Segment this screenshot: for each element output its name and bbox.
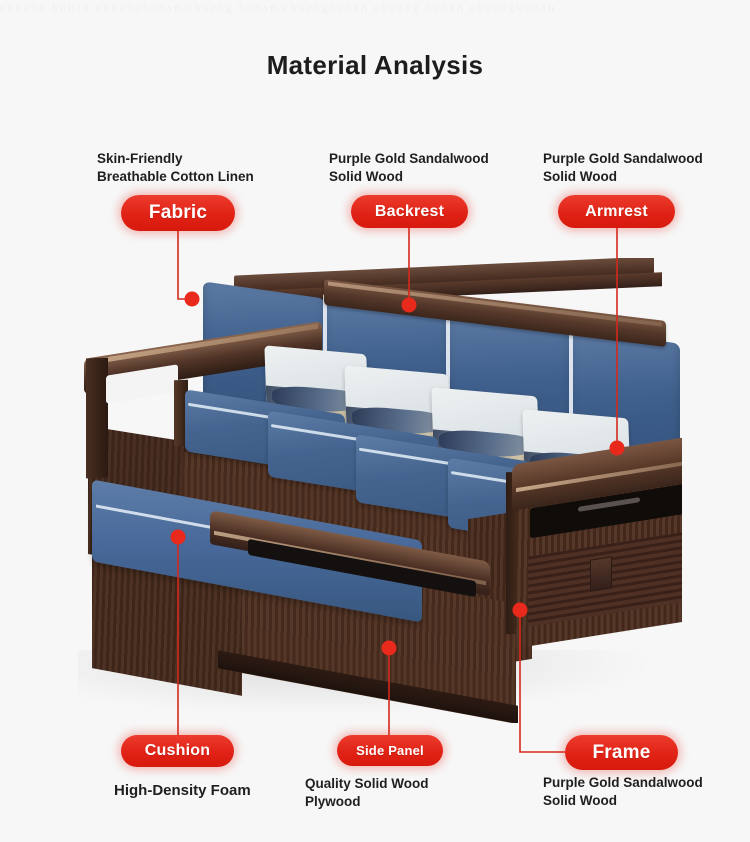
callout-badge-frame[interactable]: Frame bbox=[565, 735, 678, 770]
callout-description-backrest: Purple Gold Sandalwood Solid Wood bbox=[329, 150, 489, 186]
left-armrest-front-post bbox=[86, 358, 108, 479]
callout-description-armrest: Purple Gold Sandalwood Solid Wood bbox=[543, 150, 703, 186]
callout-description-side-panel: Quality Solid Wood Plywood bbox=[305, 775, 429, 811]
callout-badge-fabric[interactable]: Fabric bbox=[121, 195, 235, 231]
watermark-text: chuang hunan chuanghunan chuang hunan ch… bbox=[0, 0, 750, 16]
callout-badge-cushion[interactable]: Cushion bbox=[121, 735, 234, 767]
callout-badge-side-panel[interactable]: Side Panel bbox=[337, 735, 443, 766]
callout-description-frame: Purple Gold Sandalwood Solid Wood bbox=[543, 774, 703, 810]
callout-badge-armrest[interactable]: Armrest bbox=[558, 195, 675, 228]
callout-badge-backrest[interactable]: Backrest bbox=[351, 195, 468, 228]
product-image bbox=[78, 258, 682, 723]
callout-description-cushion: High-Density Foam bbox=[114, 781, 251, 801]
callout-description-fabric: Skin-Friendly Breathable Cotton Linen bbox=[97, 150, 254, 186]
cabinet-knob bbox=[590, 556, 612, 591]
material-analysis-infographic: chuang hunan chuanghunan chuang hunan ch… bbox=[0, 0, 750, 842]
page-title: Material Analysis bbox=[0, 50, 750, 81]
